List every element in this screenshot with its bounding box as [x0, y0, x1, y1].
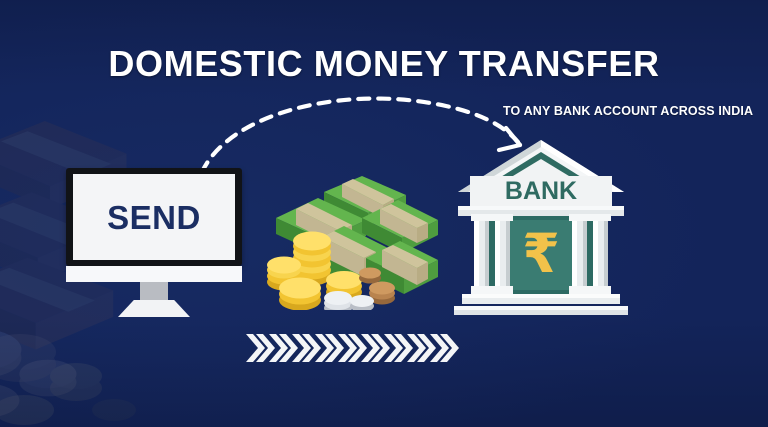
rupee-symbol: ₹ — [522, 222, 560, 285]
monitor-bezel: SEND — [66, 168, 242, 266]
cash-stacks-and-coins-icon — [258, 170, 440, 310]
monitor-stand-neck — [140, 282, 168, 302]
page-subtitle: TO ANY BANK ACCOUNT ACROSS INDIA — [503, 105, 753, 118]
monitor-stand-base — [118, 300, 190, 317]
send-label: SEND — [107, 201, 201, 234]
double-chevron-right-icon — [244, 330, 464, 366]
bank-building-icon: BANK ₹ — [452, 136, 630, 318]
monitor-chin — [66, 266, 242, 282]
bank-sign-label: BANK — [505, 177, 577, 205]
monitor-screen: SEND — [73, 174, 235, 260]
desktop-monitor-icon: SEND — [66, 168, 242, 318]
bank-steps — [454, 294, 628, 315]
faded-coins-watermark — [0, 318, 140, 427]
page-title: DOMESTIC MONEY TRANSFER — [0, 46, 768, 82]
infographic-canvas: DOMESTIC MONEY TRANSFER TO ANY BANK ACCO… — [0, 0, 768, 427]
